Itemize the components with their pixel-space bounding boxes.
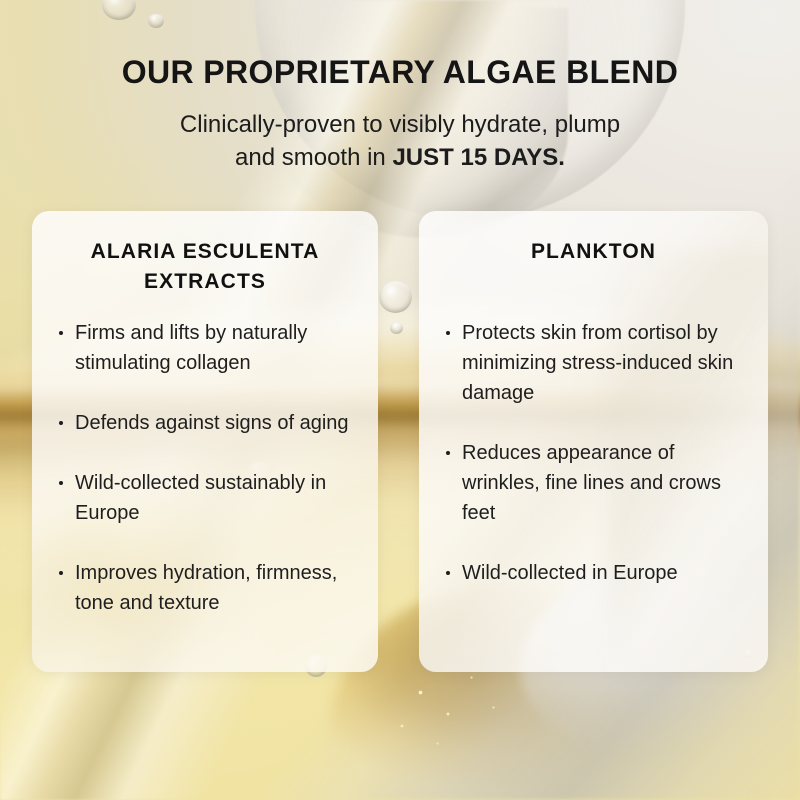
- subheading-emphasis: JUST 15 DAYS.: [392, 144, 565, 171]
- list-item: Wild-collected sustainably in Europe: [57, 468, 362, 528]
- list-item: Improves hydration, firmness, tone and t…: [57, 558, 362, 618]
- subheading-line-1: Clinically-proven to visibly hydrate, pl…: [0, 108, 800, 141]
- subheading: Clinically-proven to visibly hydrate, pl…: [0, 108, 800, 174]
- list-item: Protects skin from cortisol by minimizin…: [444, 318, 750, 408]
- benefit-list-plankton: Protects skin from cortisol by minimizin…: [419, 318, 768, 588]
- list-item: Wild-collected in Europe: [444, 558, 750, 588]
- card-title-plankton: PLANKTON: [419, 237, 768, 267]
- ingredient-card-alaria-esculenta: ALARIA ESCULENTA EXTRACTS Firms and lift…: [32, 211, 378, 672]
- page-title: OUR PROPRIETARY ALGAE BLEND: [0, 54, 800, 91]
- card-title-alaria-esculenta: ALARIA ESCULENTA EXTRACTS: [32, 237, 378, 297]
- list-item: Defends against signs of aging: [57, 408, 362, 438]
- ingredient-benefits-infographic: OUR PROPRIETARY ALGAE BLEND Clinically-p…: [0, 0, 800, 800]
- subheading-line-2-prefix: and smooth in: [235, 144, 392, 171]
- list-item: Firms and lifts by naturally stimulating…: [57, 318, 362, 378]
- list-item: Reduces appearance of wrinkles, fine lin…: [444, 438, 750, 528]
- ingredient-card-plankton: PLANKTON Protects skin from cortisol by …: [419, 211, 768, 672]
- subheading-line-2: and smooth in JUST 15 DAYS.: [0, 141, 800, 174]
- benefit-list-alaria-esculenta: Firms and lifts by naturally stimulating…: [32, 318, 378, 618]
